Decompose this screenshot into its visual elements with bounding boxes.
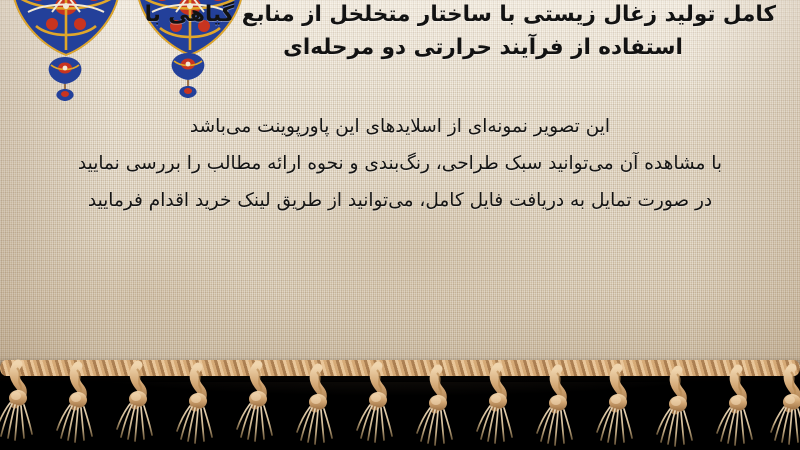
carpet-fringe-tassels [0,352,800,450]
slide-body: این تصویر نمونه‌ای از اسلایدهای این پاور… [60,108,740,219]
slide-body-line-2: با مشاهده آن می‌توانید سبک طراحی، رنگ‌بن… [60,145,740,182]
slide-body-line-3: در صورت تمایل به دریافت فایل کامل، می‌تو… [60,182,740,219]
carpet-pendant-motif-left [44,56,86,102]
slide-title: کامل تولید زغال زیستی با ساختار متخلخل ا… [190,0,776,64]
slide-canvas: کامل تولید زغال زیستی با ساختار متخلخل ا… [0,0,800,450]
carpet-medallion-motif-left [6,0,126,58]
slide-title-line-1: کامل تولید زغال زیستی با ساختار متخلخل ا… [190,0,776,31]
slide-body-line-1: این تصویر نمونه‌ای از اسلایدهای این پاور… [60,108,740,145]
slide-title-line-2: استفاده از فرآیند حرارتی دو مرحله‌ای [190,31,776,64]
